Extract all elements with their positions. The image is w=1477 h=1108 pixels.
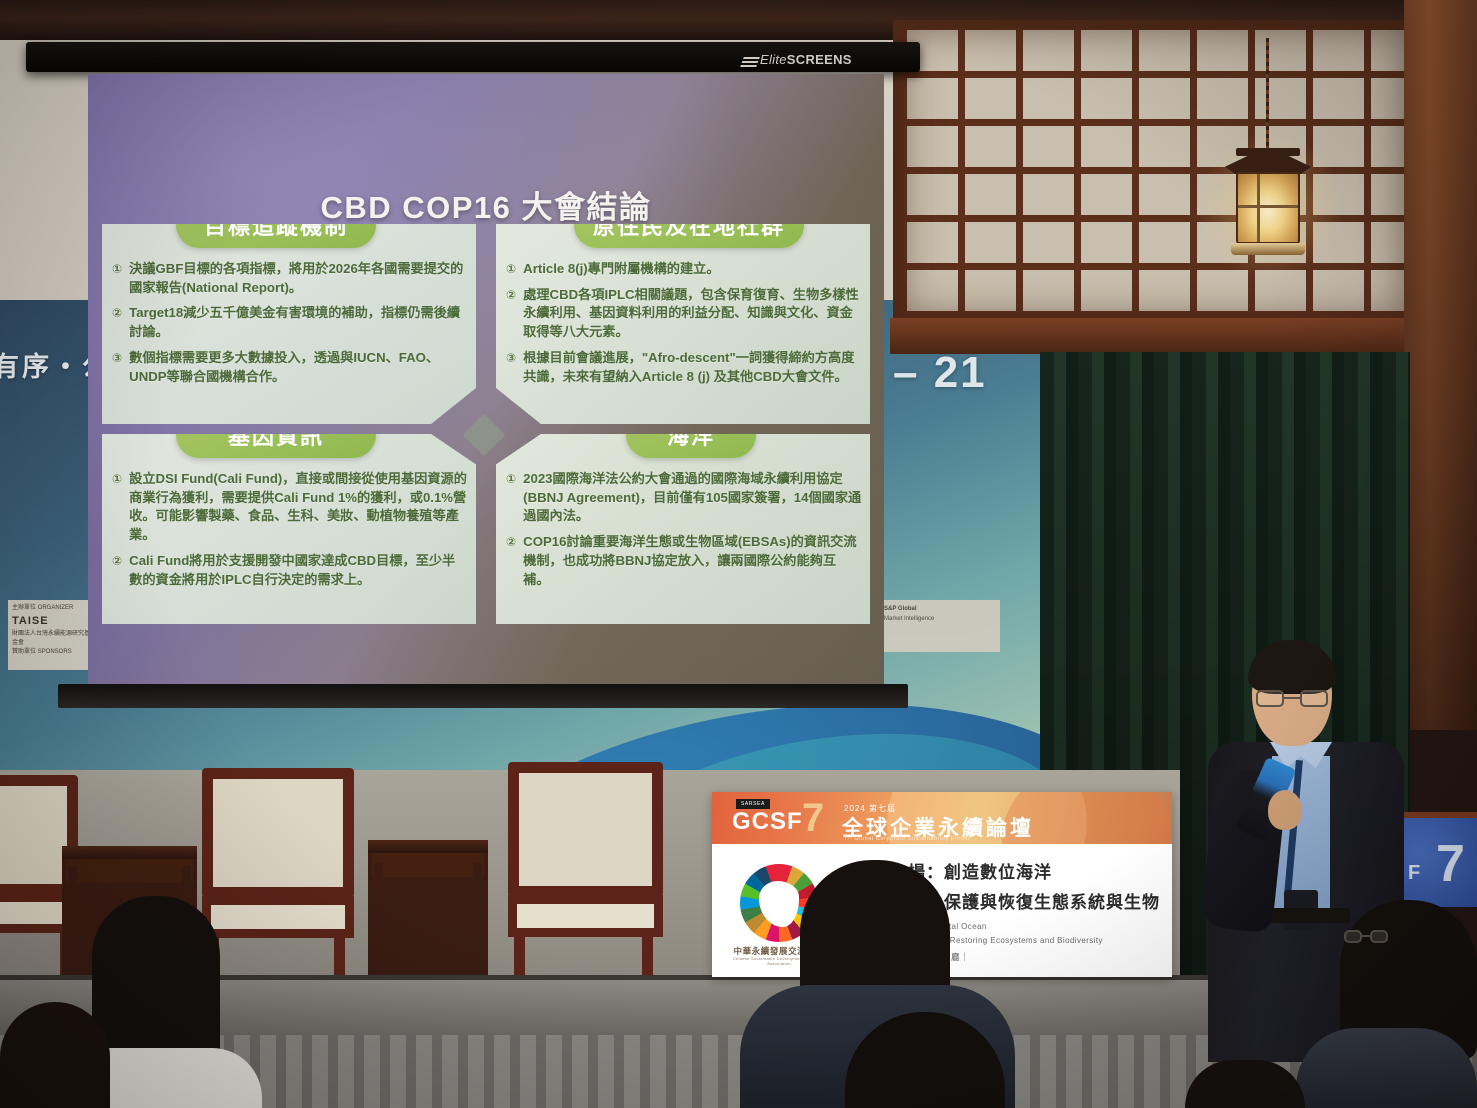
- projector-screen-bottom-bar: [58, 684, 908, 708]
- organizer-name: TAISE: [12, 615, 49, 627]
- item-marker: ①: [112, 470, 122, 545]
- glasses-icon: [1344, 930, 1388, 943]
- item-text: COP16討論重要海洋生態或生物區域(EBSAs)的資訊交流機制，也成功將BBN…: [523, 533, 862, 589]
- sponsor-right-sub: Market Intelligence: [884, 615, 996, 625]
- lattice-window: [900, 28, 1405, 318]
- item-text: 根據目前會議進展，"Afro-descent"一詞獲得締約方高度共識，未來有望納…: [523, 349, 862, 386]
- organizer-sub: 財團法人台灣永續能源研究基金會: [12, 630, 92, 648]
- sponsor-right-name: S&P Global: [884, 606, 917, 612]
- speaker-hand: [1268, 790, 1302, 830]
- list-item: ① Article 8(j)專門附屬機構的建立。: [506, 260, 862, 279]
- sponsor-label: 贊助單位 SPONSORS: [12, 648, 92, 657]
- backdrop-right-number: – 21: [893, 348, 987, 398]
- conference-room-photo: 有序・公平 – 21 主辦單位 ORGANIZER TAISE 財團法人台灣永續…: [0, 0, 1477, 1108]
- slide-quadrant-grid: 目標追蹤機制 ① 決議GBF目標的各項指標，將用於2026年各國需要提交的國家報…: [102, 224, 870, 664]
- list-item: ① 2023國際海洋法公約大會通過的國際海域永續利用協定(BBNJ Agreem…: [506, 470, 862, 526]
- item-marker: ③: [506, 349, 516, 386]
- list-item: ③ 數個指標需要更多大數據投入，透過與IUCN、FAO、UNDP等聯合國機構合作…: [112, 349, 468, 386]
- item-text: 決議GBF目標的各項指標，將用於2026年各國需要提交的國家報告(Nationa…: [129, 260, 468, 297]
- quadrant-indigenous-communities: 原住民及在地社群 ① Article 8(j)專門附屬機構的建立。 ② 處理CB…: [496, 224, 870, 424]
- item-marker: ②: [112, 304, 122, 341]
- list-item: ① 決議GBF目標的各項指標，將用於2026年各國需要提交的國家報告(Natio…: [112, 260, 468, 297]
- item-marker: ②: [506, 533, 516, 589]
- lantern-cap: [1236, 148, 1300, 156]
- item-marker: ②: [506, 286, 516, 342]
- center-diamond-accent: [463, 414, 505, 456]
- quadrant-genetic-information: 基因資訊 ① 設立DSI Fund(Cali Fund)，直接或間接從使用基因資…: [102, 434, 476, 624]
- organizer-logo-block: 主辦單位 ORGANIZER TAISE 財團法人台灣永續能源研究基金會 贊助單…: [8, 600, 96, 670]
- wood-column: [1404, 0, 1477, 730]
- brand-suffix: SCREENS: [787, 52, 852, 67]
- presentation-slide: CBD COP16 大會結論 目標追蹤機制 ① 決議GBF目標的各項指標，將用於…: [88, 74, 884, 684]
- stage-chair: [202, 768, 357, 998]
- list-item: ③ 根據目前會議進展，"Afro-descent"一詞獲得締約方高度共識，未來有…: [506, 349, 862, 386]
- list-item: ② COP16討論重要海洋生態或生物區域(EBSAs)的資訊交流機制，也成功將B…: [506, 533, 862, 589]
- quadrant-ocean: 海洋 ① 2023國際海洋法公約大會通過的國際海域永續利用協定(BBNJ Agr…: [496, 434, 870, 624]
- item-marker: ②: [112, 552, 122, 589]
- projector-brand-label: EliteSCREENS: [760, 52, 852, 67]
- projection-screen: CBD COP16 大會結論 目標追蹤機制 ① 決議GBF目標的各項指標，將用於…: [88, 74, 884, 684]
- brand-prefix: Elite: [760, 52, 787, 67]
- list-item: ② Target18減少五千億美金有害環境的補助，指標仍需後續討論。: [112, 304, 468, 341]
- item-marker: ①: [506, 260, 516, 279]
- wall-beam: [890, 318, 1415, 354]
- organizer-label: 主辦單位 ORGANIZER: [12, 604, 92, 613]
- item-marker: ③: [112, 349, 122, 386]
- item-text: 設立DSI Fund(Cali Fund)，直接或間接從使用基因資源的商業行為獲…: [129, 470, 468, 545]
- lantern-base: [1231, 243, 1305, 255]
- list-item: ② 處理CBD各項IPLC相關議題，包含保育復育、生物多樣性永續利用、基因資料利…: [506, 286, 862, 342]
- quadrant-list: ① 2023國際海洋法公約大會通過的國際海域永續利用協定(BBNJ Agreem…: [506, 470, 862, 596]
- quadrant-list: ① 設立DSI Fund(Cali Fund)，直接或間接從使用基因資源的商業行…: [112, 470, 468, 596]
- slide-title: CBD COP16 大會結論: [88, 182, 884, 227]
- quadrant-list: ① Article 8(j)專門附屬機構的建立。 ② 處理CBD各項IPLC相關…: [506, 260, 862, 393]
- item-text: Cali Fund將用於支援開發中國家達成CBD目標，至少半數的資金將用於IPL…: [129, 552, 468, 589]
- list-item: ② Cali Fund將用於支援開發中國家達成CBD目標，至少半數的資金將用於I…: [112, 552, 468, 589]
- blue-sign-letters: F: [1408, 862, 1420, 885]
- glasses-icon: [1256, 690, 1328, 707]
- item-text: 數個指標需要更多大數據投入，透過與IUCN、FAO、UNDP等聯合國機構合作。: [129, 349, 468, 386]
- item-text: 處理CBD各項IPLC相關議題，包含保育復育、生物多樣性永續利用、基因資料利用的…: [523, 286, 862, 342]
- sponsor-logo-block: S&P Global Market Intelligence: [880, 600, 1000, 652]
- quadrant-list: ① 決議GBF目標的各項指標，將用於2026年各國需要提交的國家報告(Natio…: [112, 260, 468, 393]
- item-text: Target18減少五千億美金有害環境的補助，指標仍需後續討論。: [129, 304, 468, 341]
- lantern-chain: [1266, 38, 1269, 150]
- gcsf-edition-number: 7: [802, 798, 824, 838]
- stage-chair: [508, 762, 666, 997]
- item-marker: ①: [506, 470, 516, 526]
- quadrant-goal-tracking: 目標追蹤機制 ① 決議GBF目標的各項指標，將用於2026年各國需要提交的國家報…: [102, 224, 476, 424]
- banner-title-en: 7ᵗʰ Global Corporate Sustainability Foru…: [844, 836, 970, 842]
- banner-header-band: SARSEA GCSF 7 2024 第七屆 全球企業永續論壇 7ᵗʰ Glob…: [712, 792, 1172, 844]
- list-item: ① 設立DSI Fund(Cali Fund)，直接或間接從使用基因資源的商業行…: [112, 470, 468, 545]
- item-text: Article 8(j)專門附屬機構的建立。: [523, 260, 862, 279]
- item-marker: ①: [112, 260, 122, 297]
- blue-sign-number: 7: [1436, 838, 1465, 890]
- gcsf-wordmark: GCSF: [732, 808, 803, 836]
- lantern-icon: [1236, 172, 1300, 244]
- gcsf-blue-sign: F 7: [1396, 812, 1477, 907]
- item-text: 2023國際海洋法公約大會通過的國際海域永續利用協定(BBNJ Agreemen…: [523, 470, 862, 526]
